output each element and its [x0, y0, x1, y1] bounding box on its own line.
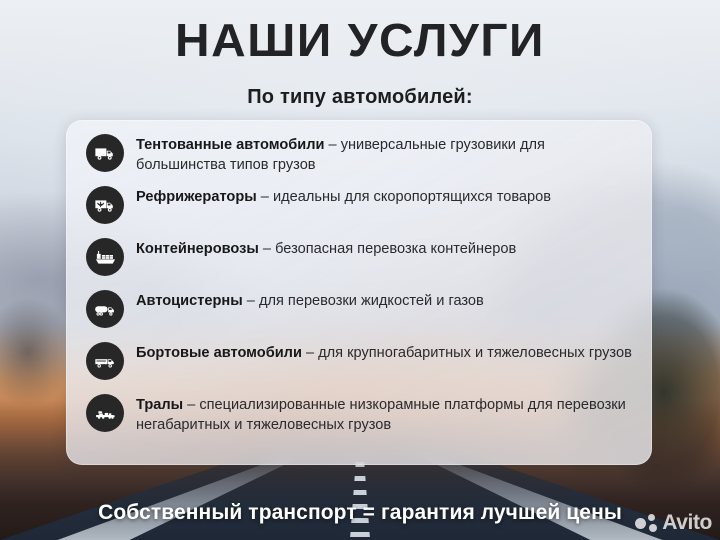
list-item: Рефрижераторы – идеальны для скоропортящ…	[86, 184, 634, 228]
page-title: НАШИ УСЛУГИ	[0, 14, 720, 66]
service-dash: –	[324, 137, 340, 153]
services-poster: НАШИ УСЛУГИ По типу автомобилей:	[0, 0, 720, 540]
service-description: специализированные низкорамные платформы…	[136, 397, 626, 433]
service-name: Бортовые автомобили	[136, 345, 302, 361]
list-item-text: Автоцистерны – для перевозки жидкостей и…	[136, 288, 484, 311]
service-name: Контейнеровозы	[136, 241, 259, 257]
list-item: Автоцистерны – для перевозки жидкостей и…	[86, 288, 634, 332]
service-description: для крупногабаритных и тяжеловесных груз…	[318, 345, 632, 361]
service-dash: –	[257, 189, 273, 205]
service-dash: –	[302, 345, 318, 361]
service-dash: –	[243, 293, 259, 309]
box-truck-icon	[86, 134, 124, 172]
service-name: Автоцистерны	[136, 293, 243, 309]
list-item: Тентованные автомобили – универсальные г…	[86, 132, 634, 176]
avito-wordmark: Avito	[662, 512, 712, 534]
refrigerator-truck-icon	[86, 186, 124, 224]
services-card: Тентованные автомобили – универсальные г…	[66, 120, 652, 465]
list-item-text: Тралы – специализированные низкорамные п…	[136, 392, 634, 435]
list-item-text: Бортовые автомобили – для крупногабаритн…	[136, 340, 632, 363]
service-name: Тралы	[136, 397, 183, 413]
list-item: Контейнеровозы – безопасная перевозка ко…	[86, 236, 634, 280]
lowboy-trailer-icon	[86, 394, 124, 432]
list-item-text: Контейнеровозы – безопасная перевозка ко…	[136, 236, 516, 259]
service-description: для перевозки жидкостей и газов	[259, 293, 484, 309]
list-item-text: Тентованные автомобили – универсальные г…	[136, 132, 634, 175]
container-ship-icon	[86, 238, 124, 276]
list-item-text: Рефрижераторы – идеальны для скоропортящ…	[136, 184, 551, 207]
list-item: Бортовые автомобили – для крупногабаритн…	[86, 340, 634, 384]
service-description: идеальны для скоропортящихся товаров	[273, 189, 551, 205]
tanker-truck-icon	[86, 290, 124, 328]
avito-dots-icon	[635, 512, 661, 534]
service-name: Рефрижераторы	[136, 189, 257, 205]
services-list: Тентованные автомобили – универсальные г…	[86, 132, 634, 436]
avito-watermark: Avito	[635, 512, 712, 534]
flatbed-truck-icon	[86, 342, 124, 380]
service-dash: –	[259, 241, 275, 257]
service-name: Тентованные автомобили	[136, 137, 324, 153]
service-dash: –	[183, 397, 199, 413]
page-subtitle: По типу автомобилей:	[0, 84, 720, 110]
footer-slogan: Собственный транспорт = гарантия лучшей …	[0, 499, 720, 526]
list-item: Тралы – специализированные низкорамные п…	[86, 392, 634, 436]
service-description: безопасная перевозка контейнеров	[275, 241, 516, 257]
